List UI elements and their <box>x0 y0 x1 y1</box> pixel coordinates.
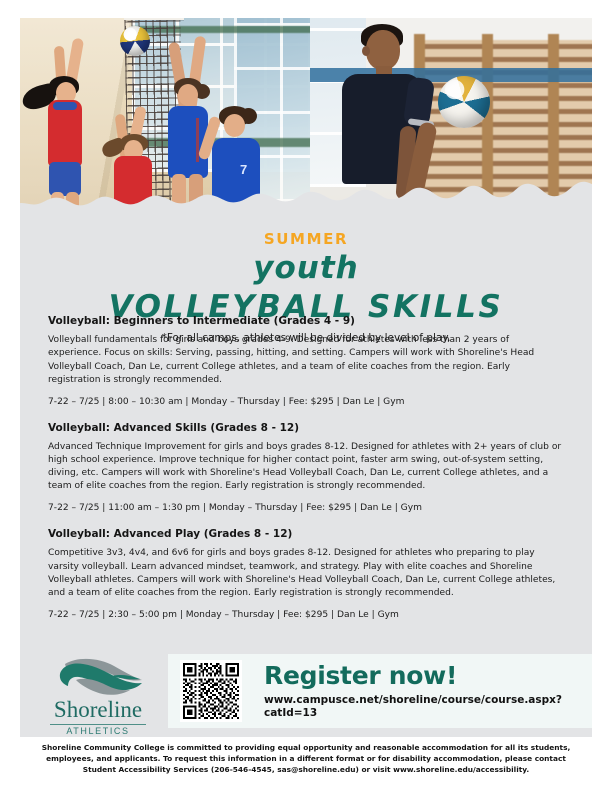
program-schedule: 7-22 – 7/25 | 2:30 – 5:00 pm | Monday – … <box>48 609 564 622</box>
eyebrow-summer: SUMMER <box>20 232 592 247</box>
program-section: Volleyball: Advanced Skills (Grades 8 - … <box>48 421 564 516</box>
program-description: Volleyball fundamentals for girls and bo… <box>48 334 564 387</box>
logo-wordmark: Shoreline <box>42 698 154 721</box>
photo-girls-volleyball: 7 <box>20 18 310 218</box>
net-band <box>124 18 184 20</box>
shoreline-athletics-logo: Shoreline ATHLETICS <box>42 658 154 737</box>
volleyball-ball-left <box>120 26 150 56</box>
boy-player <box>328 26 438 218</box>
player-red-left <box>40 76 86 218</box>
program-description: Advanced Technique Improvement for girls… <box>48 441 564 494</box>
player-blue-front: 7 <box>206 100 268 218</box>
program-schedule: 7-22 – 7/25 | 11:00 am – 1:30 pm | Monda… <box>48 502 564 515</box>
wall-bars <box>418 40 592 218</box>
player-red-center <box>108 134 160 218</box>
register-row: Shoreline ATHLETICS <box>42 654 582 737</box>
register-url[interactable]: www.campusce.net/shoreline/course/course… <box>264 694 592 719</box>
register-now-heading: Register now! <box>264 663 592 688</box>
flyer-panel: 7 SUMMER y <box>20 18 592 737</box>
program-heading: Volleyball: Advanced Skills (Grades 8 - … <box>48 421 564 435</box>
program-description: Competitive 3v3, 4v4, and 6v6 for girls … <box>48 547 564 600</box>
program-section: Volleyball: Advanced Play (Grades 8 - 12… <box>48 527 564 622</box>
accessibility-footer: Shoreline Community College is committed… <box>36 742 576 775</box>
program-section: Volleyball: Beginners to Intermediate (G… <box>48 314 564 409</box>
wall-bar-post-2 <box>482 34 493 218</box>
program-heading: Volleyball: Beginners to Intermediate (G… <box>48 314 564 328</box>
program-heading: Volleyball: Advanced Play (Grades 8 - 12… <box>48 527 564 541</box>
volleyball-ball-right <box>438 76 490 128</box>
photo-boy-volleyball <box>310 18 592 218</box>
dolphin-icon <box>56 658 144 698</box>
title-youth: youth <box>20 253 592 284</box>
logo-subtitle: ATHLETICS <box>42 727 154 736</box>
register-text: Register now! www.campusce.net/shoreline… <box>264 663 592 719</box>
hero-image-band: 7 <box>20 18 592 218</box>
wall-bar-post-3 <box>548 34 559 218</box>
program-schedule: 7-22 – 7/25 | 8:00 – 10:30 am | Monday –… <box>48 396 564 409</box>
logo-divider <box>50 724 146 725</box>
qr-code[interactable] <box>180 660 242 722</box>
register-callout[interactable]: Register now! www.campusce.net/shoreline… <box>168 654 592 728</box>
program-sections: Volleyball: Beginners to Intermediate (G… <box>48 314 564 634</box>
